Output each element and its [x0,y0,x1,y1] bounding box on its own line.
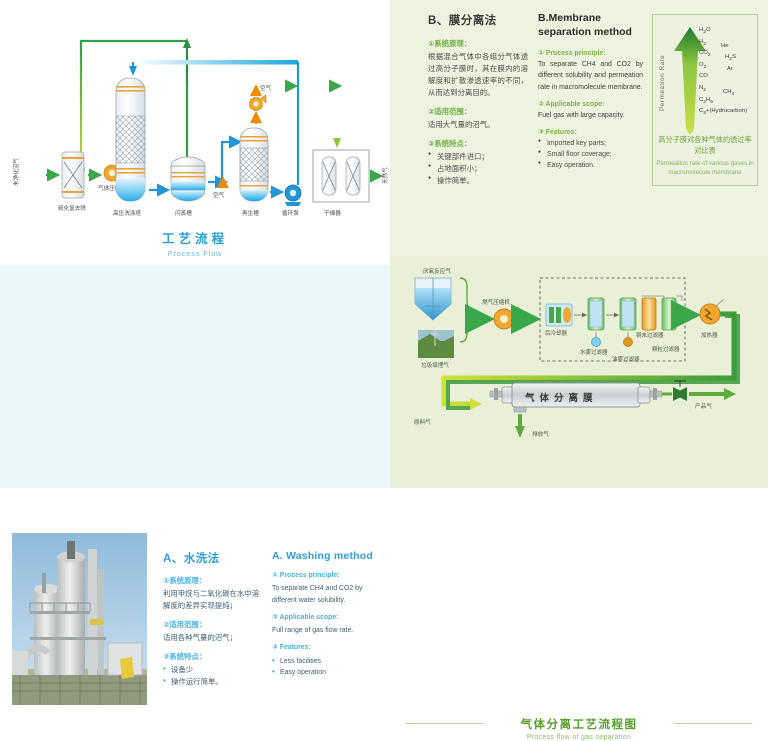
left-column: 未净化沼气 硫化氢去除 气体压缩 [0,0,390,488]
gas-row: N2 CH4 [699,85,757,97]
svg-text:空气: 空气 [260,84,272,92]
washing-heading-en: A. Washing method [272,550,388,562]
svg-text:铜末过滤器: 铜末过滤器 [636,331,664,339]
process-flow-panel: 未净化沼气 硫化氢去除 气体压缩 [0,0,390,265]
gas-row: C2H6 [699,97,757,109]
process-flow-title: 工艺流程 Process Flow [0,228,390,258]
list-item: Imported key parts; [538,138,643,149]
process-flow-title-en: Process Flow [0,249,390,258]
svg-text:水雾过滤器: 水雾过滤器 [580,348,608,356]
washing-cn-features-label: ③系统特点： [163,651,261,662]
permeation-rate-chart: Permeation Rate H2O [652,14,758,186]
svg-text:颗粒过滤器: 颗粒过滤器 [652,345,680,353]
washing-method-en: A. Washing method ① Process principle: T… [272,550,388,678]
washing-cn-principle-body: 利用甲烷与二氧化碳在水中溶解度的差异实现提纯； [163,588,261,612]
right-column: B、膜分离法 ①系统原理： 根据混合气体中各组分气体透过高分子膜时，其在膜内的溶… [390,0,768,488]
svg-text:厌氧反应气: 厌氧反应气 [423,267,451,275]
gas-primary: CO2 [699,50,711,58]
svg-text:高压洗涤塔: 高压洗涤塔 [113,209,141,217]
membrane-en-scope-body: Fuel gas with large capacity. [538,110,643,121]
washing-en-principle-body: To separate CH4 and CO2 by different wat… [272,583,388,605]
gas-row: CO2 H2S [699,50,757,62]
membrane-en-scope-label: ② Applicable scope: [538,100,643,108]
svg-text:空气: 空气 [213,191,225,199]
permeation-chart-ylabel: Permeation Rate [659,33,671,133]
list-item: 操作运行简单。 [163,676,261,688]
washing-cn-features-list: 设备少 操作运行简单。 [163,664,261,688]
membrane-heading-en: B.Membrane separation method [538,12,643,39]
gas-row: O2 Ar [699,62,757,74]
gas-separation-title-cn: 气体分离工艺流程图 [390,716,768,732]
list-item: 操作简单。 [428,175,528,187]
list-item: 占地面积小； [428,163,528,175]
washing-method-cn: A、水洗法 ①系统原理： 利用甲烷与二氧化碳在水中溶解度的差异实现提纯； ②适用… [163,550,261,688]
water-scrubbing-plant-photo [12,533,147,705]
svg-text:排放气: 排放气 [532,430,549,438]
gas-primary: H2 [699,39,706,47]
svg-text:未净化沼气: 未净化沼气 [12,158,20,186]
membrane-cn-features-list: 关键部件进口； 占地面积小； 操作简单。 [428,151,528,187]
list-item: 设备少 [163,664,261,676]
svg-text:后冷却器: 后冷却器 [545,329,568,337]
gas-separation-title-en: Process flow of gas separation [390,734,768,741]
gas-secondary: He [721,43,729,49]
membrane-en-features-list: Imported key parts; Small floor coverage… [538,138,643,172]
gas-secondary: Ar [727,66,733,72]
process-flow-diagram: 未净化沼气 硫化氢去除 气体压缩 [0,0,390,265]
gas-primary: N2 [699,85,706,93]
gas-primary: C3+(Hydrocarbon) [699,108,747,116]
gas-primary: C2H6 [699,97,713,105]
gas-primary: H2O [699,27,711,35]
list-item: Small floor coverage; [538,149,643,160]
svg-text:闪蒸槽: 闪蒸槽 [175,209,192,217]
list-item: Easy operation [272,667,388,678]
membrane-cn-features-label: ③系统特点： [428,138,528,149]
process-flow-title-cn: 工艺流程 [0,228,390,247]
washing-en-scope-label: ② Applicable scope: [272,613,388,623]
membrane-heading-cn: B、膜分离法 [428,12,528,28]
permeation-chart-subtitle: Permeation rate of various gases in macr… [655,160,755,178]
svg-text:循环泵: 循环泵 [282,209,299,217]
list-item: 关键部件进口； [428,151,528,163]
washing-cn-principle-label: ①系统原理： [163,575,261,586]
membrane-en-features-label: ③ Features: [538,128,643,136]
svg-text:天然气: 天然气 [381,167,389,184]
gas-separation-panel: 厌氧反应气 垃圾填埋气 燃气压缩机 [390,256,768,488]
gas-row: CO [699,73,757,85]
gas-separation-title: 气体分离工艺流程图 Process flow of gas separation [390,716,768,741]
membrane-method-en: B.Membrane separation method ① Process p… [538,12,643,172]
permeation-gas-list: H2O H2 He CO2 H2S O2 Ar CO [699,27,757,120]
svg-text:燃气压缩机: 燃气压缩机 [482,298,510,306]
permeation-chart-title: 高分子膜对各种气体的透过率对比表 [655,135,755,157]
membrane-en-principle-body: To separate CH4 and CO2 by different sol… [538,59,643,93]
gas-row: C3+(Hydrocarbon) [699,108,757,120]
svg-text:原料气: 原料气 [414,418,431,426]
washing-en-principle-label: ① Process principle: [272,571,388,581]
gas-primary: O2 [699,62,706,70]
list-item: Easy operation. [538,160,643,171]
gas-separation-diagram: 厌氧反应气 垃圾填埋气 燃气压缩机 [390,256,768,488]
washing-method-panel: A、水洗法 ①系统原理： 利用甲烷与二氧化碳在水中溶解度的差异实现提纯； ②适用… [0,265,390,488]
washing-en-features-list: Less facilities Easy operation [272,656,388,678]
gas-row: H2O [699,27,757,39]
membrane-method-panel: B、膜分离法 ①系统原理： 根据混合气体中各组分气体透过高分子膜时，其在膜内的溶… [390,0,768,256]
svg-text:再生槽: 再生槽 [242,209,259,217]
membrane-cn-scope-body: 适用大气量的沼气。 [428,119,528,131]
washing-cn-scope-label: ②适用范围： [163,619,261,630]
washing-heading-cn: A、水洗法 [163,550,261,566]
svg-text:垃圾填埋气: 垃圾填埋气 [421,361,449,369]
washing-cn-scope-body: 适用各种气量的沼气； [163,632,261,644]
svg-text:气体分离膜: 气体分离膜 [524,392,598,404]
list-item: Less facilities [272,656,388,667]
membrane-cn-principle-label: ①系统原理： [428,38,528,49]
svg-text:硫化氢去除: 硫化氢去除 [58,204,86,212]
washing-en-scope-body: Full range of gas flow rate. [272,625,388,636]
membrane-cn-scope-label: ②适用范围： [428,106,528,117]
permeation-chart-caption: 高分子膜对各种气体的透过率对比表 Permeation rate of vari… [655,135,755,178]
gas-primary: CO [699,73,708,79]
membrane-cn-principle-body: 根据混合气体中各组分气体透过高分子膜时，其在膜内的溶解度和扩散渗透速率的不同，从… [428,51,528,99]
svg-text:加热器: 加热器 [701,331,718,339]
washing-en-features-label: ③ Features: [272,643,388,653]
poster-page: 未净化沼气 硫化氢去除 气体压缩 [0,0,768,488]
svg-text:产品气: 产品气 [695,402,712,410]
membrane-method-cn: B、膜分离法 ①系统原理： 根据混合气体中各组分气体透过高分子膜时，其在膜内的溶… [428,12,528,187]
gas-row: H2 He [699,39,757,51]
svg-text:干燥器: 干燥器 [324,209,341,217]
membrane-en-principle-label: ① Process principle: [538,49,643,57]
svg-text:油雾过滤器: 油雾过滤器 [612,355,640,363]
